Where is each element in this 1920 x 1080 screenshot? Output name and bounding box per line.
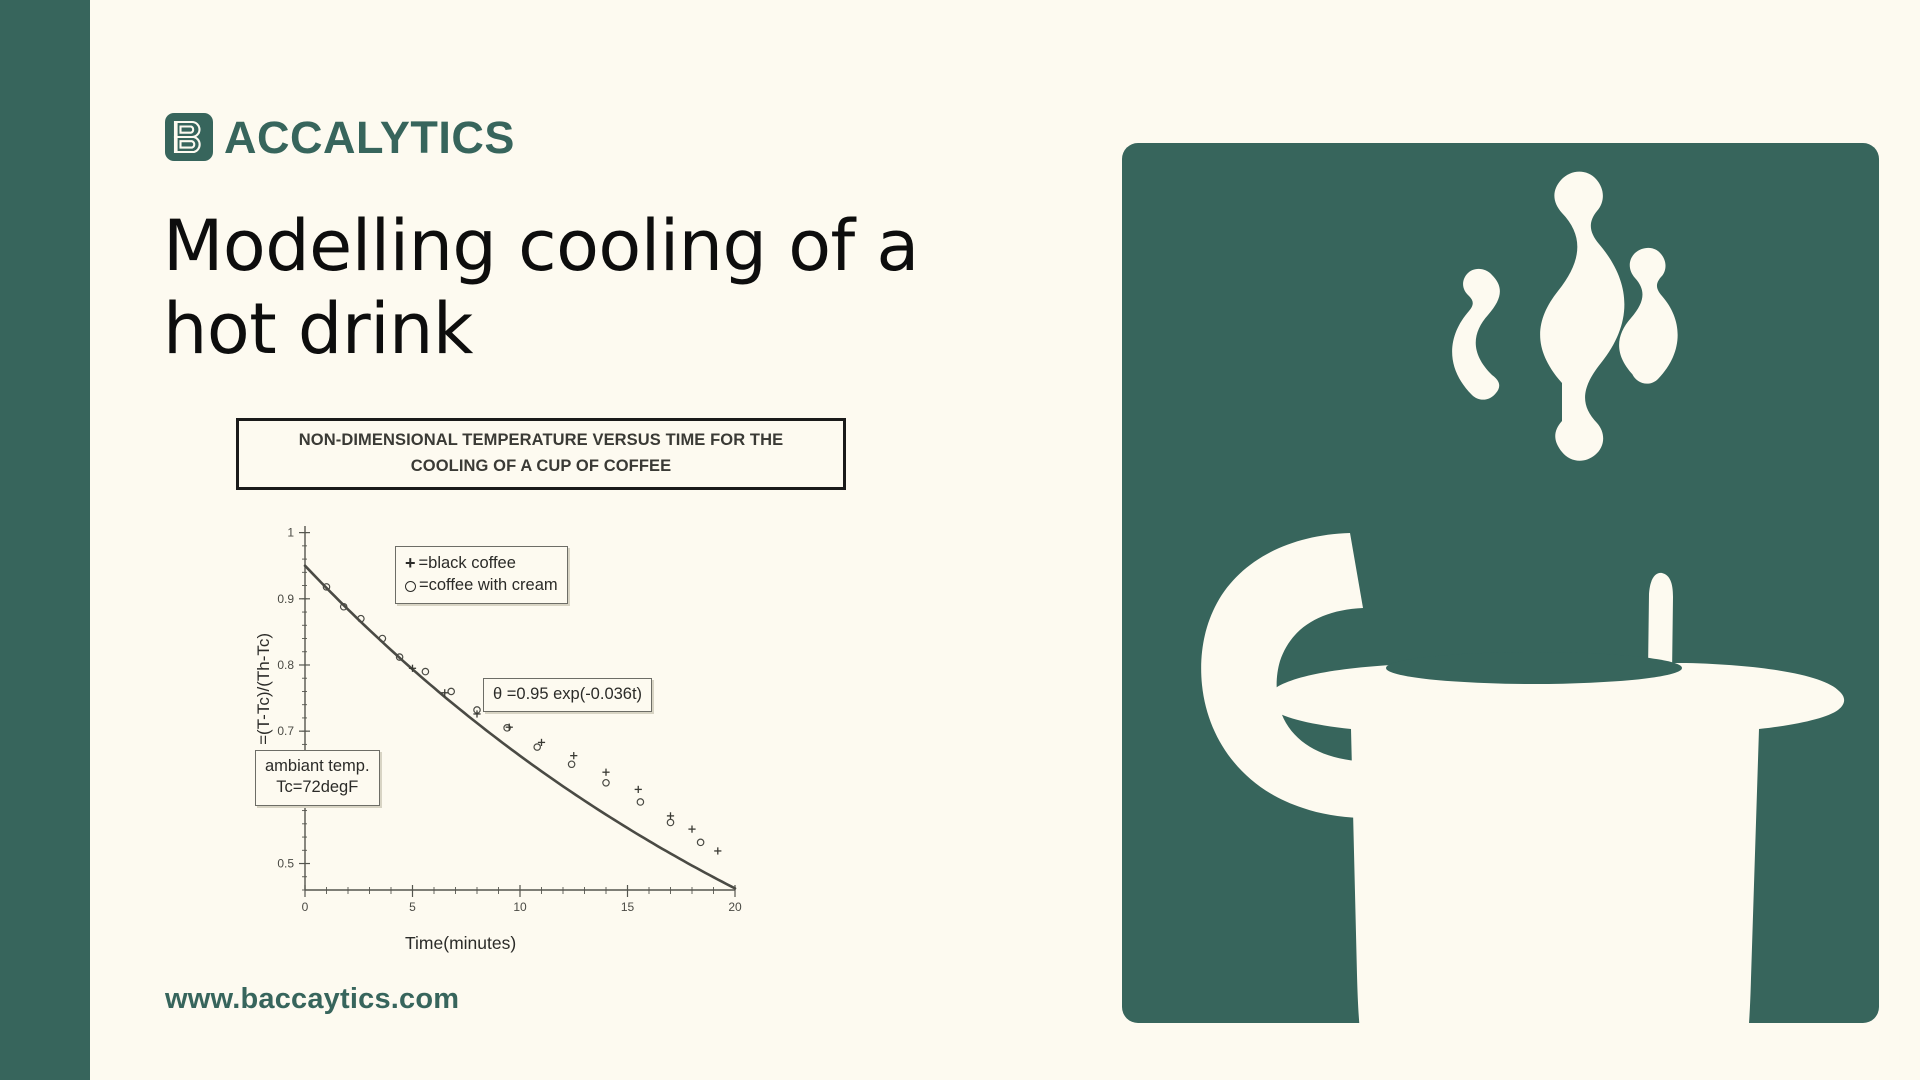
chart-legend-box: + =black coffee =coffee with cream (395, 546, 568, 604)
data-point-plus (602, 769, 609, 776)
coffee-surface (1386, 652, 1682, 684)
fit-equation-text: θ =0.95 exp(-0.036t) (493, 684, 642, 705)
ambient-temp-annotation: ambiant temp. Tc=72degF (255, 750, 380, 806)
chart-title-line-1: NON-DIMENSIONAL TEMPERATURE VERSUS TIME … (299, 428, 783, 454)
data-point-circle (422, 668, 428, 674)
chart-title-box: NON-DIMENSIONAL TEMPERATURE VERSUS TIME … (236, 418, 846, 490)
hot-coffee-mug-icon (1122, 143, 1879, 1023)
data-point-plus (688, 826, 695, 833)
data-point-plus (714, 847, 721, 854)
b-monogram-icon (165, 113, 213, 161)
page-title: Modelling cooling of a hot drink (163, 205, 1023, 370)
illustration-panel (1122, 143, 1879, 1023)
data-point-circle (667, 819, 673, 825)
fit-equation-annotation: θ =0.95 exp(-0.036t) (483, 678, 652, 712)
plus-marker-icon: + (405, 552, 416, 575)
y-tick-label: 0.8 (277, 658, 294, 672)
data-points-coffee-with-cream (323, 584, 704, 846)
data-point-plus (635, 786, 642, 793)
legend-label-coffee-with-cream: =coffee with cream (419, 575, 558, 596)
left-accent-stripe (0, 0, 90, 1080)
x-axis-tick-labels: 05101520 (302, 900, 742, 914)
y-axis-tick-labels: 0.50.60.70.80.91 (277, 526, 294, 871)
x-axis-ticks (305, 885, 735, 897)
x-tick-label: 10 (513, 900, 527, 914)
data-point-circle (697, 839, 703, 845)
data-point-plus (570, 752, 577, 759)
y-tick-label: 0.9 (277, 592, 294, 606)
y-tick-label: 0.5 (277, 857, 294, 871)
chart-title-line-2: COOLING OF A CUP OF COFFEE (411, 454, 672, 480)
data-point-circle (448, 688, 454, 694)
chart-plot-area: 0.50.60.70.80.91 05101520 θ =(T-Tc)/(Th-… (230, 518, 890, 968)
y-axis-title: θ =(T-Tc)/(Th-Tc) (254, 633, 274, 759)
data-point-circle (603, 780, 609, 786)
brand-wordmark: ACCALYTICS (224, 115, 515, 160)
fit-curve-line (305, 566, 735, 889)
x-tick-label: 15 (621, 900, 635, 914)
brand-logo[interactable]: ACCALYTICS (165, 113, 515, 161)
x-axis-title: Time(minutes) (405, 933, 516, 954)
data-point-plus (667, 812, 674, 819)
legend-label-black-coffee: =black coffee (419, 553, 516, 574)
slide-canvas: ACCALYTICS Modelling cooling of a hot dr… (0, 0, 1920, 1080)
x-tick-label: 0 (302, 900, 309, 914)
data-point-circle (637, 799, 643, 805)
x-tick-label: 20 (728, 900, 742, 914)
y-tick-label: 0.7 (277, 724, 294, 738)
site-url-link[interactable]: www.baccaytics.com (165, 983, 459, 1016)
x-tick-label: 5 (409, 900, 416, 914)
cooling-chart-figure: NON-DIMENSIONAL TEMPERATURE VERSUS TIME … (230, 418, 890, 968)
circle-marker-icon (405, 581, 416, 592)
ambient-temp-line-1: ambiant temp. (265, 756, 370, 777)
ambient-temp-line-2: Tc=72degF (265, 777, 370, 798)
legend-item-black-coffee: + =black coffee (405, 552, 558, 575)
y-tick-label: 1 (287, 526, 294, 540)
data-point-circle (568, 761, 574, 767)
legend-item-coffee-with-cream: =coffee with cream (405, 575, 558, 596)
data-point-circle (534, 744, 540, 750)
